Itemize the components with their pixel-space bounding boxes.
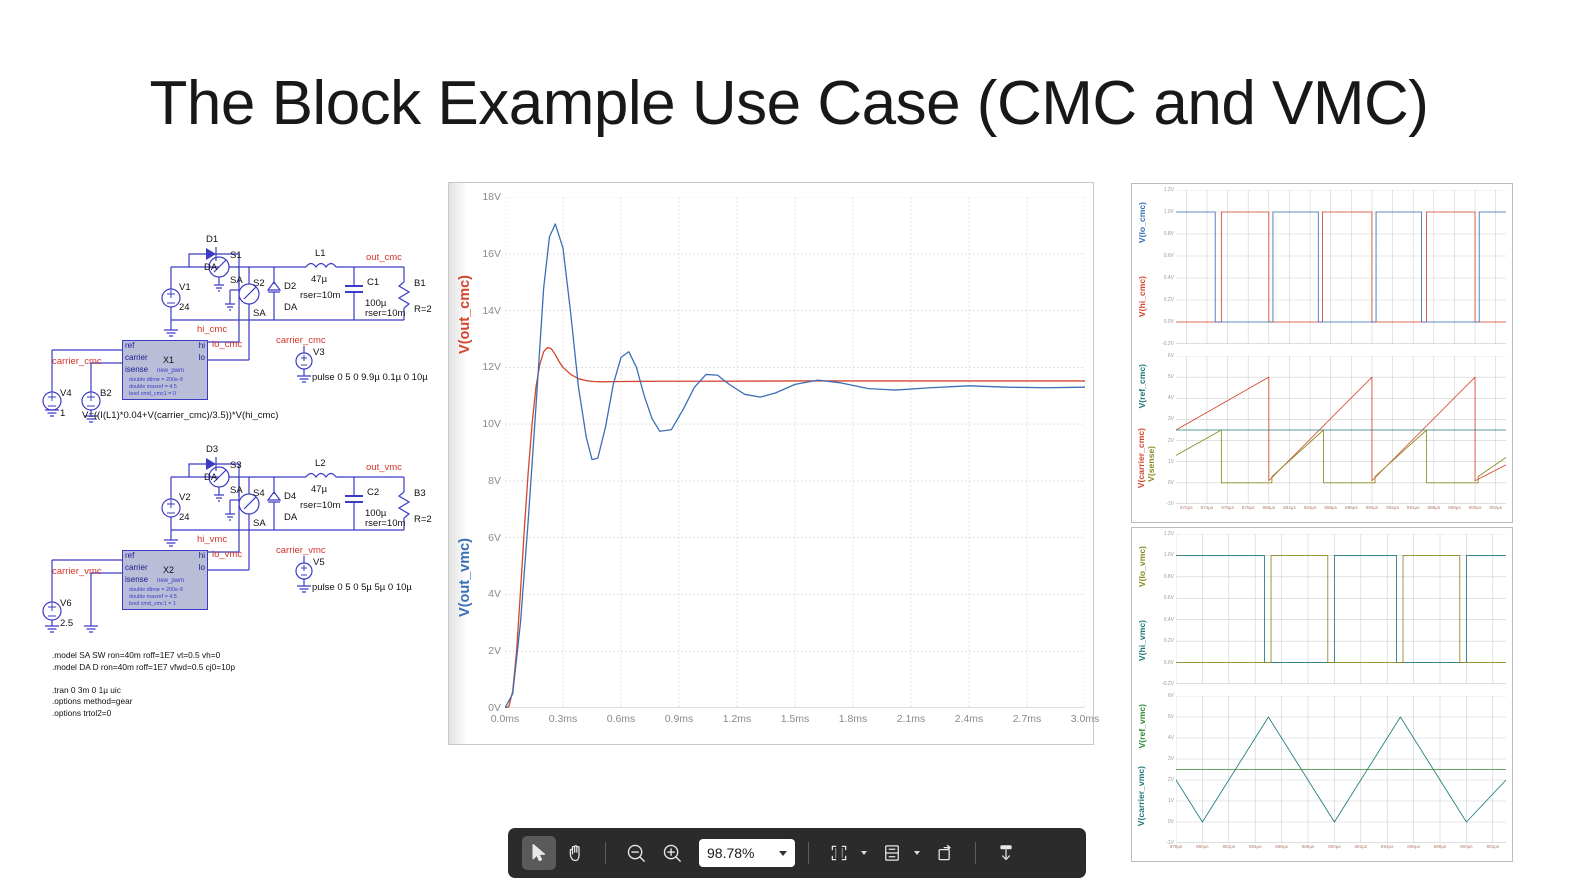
hand-icon: [565, 843, 585, 863]
y-tick-label: 6V: [488, 532, 501, 544]
label-c2: C2: [367, 487, 379, 498]
pwm-block-x2[interactable]: ref carrier isense hi lo X2 new_pwm doub…: [122, 550, 208, 610]
x-tick-label: 0.3ms: [549, 713, 578, 725]
zoom-level-select[interactable]: 98.78%: [699, 839, 795, 867]
y-tick-label: 6V: [1168, 353, 1174, 359]
y-tick-label: 5V: [1168, 714, 1174, 720]
label-v1: V1: [179, 282, 191, 293]
label-c1: C1: [367, 277, 379, 288]
zoom-in-icon: [661, 842, 683, 864]
label-v5: V5: [313, 557, 325, 568]
panel-lo-hi-cmc-area: 1.2V1.0V0.8V0.6V0.4V0.2V0.0V-0.2V: [1176, 190, 1506, 344]
x-tick-label: 892µs: [1354, 844, 1367, 849]
x2-pin-carrier: carrier: [125, 563, 148, 572]
x-tick-label: 2.7ms: [1013, 713, 1042, 725]
download-icon: [996, 843, 1016, 863]
y-tick-label: 4V: [1168, 735, 1174, 741]
x-tick-label: 902µs: [1486, 844, 1499, 849]
y-tick-label: 4V: [1168, 395, 1174, 401]
x2-pin-hi: hi: [199, 551, 205, 560]
x-tick-label: 878µs: [1170, 844, 1183, 849]
x-tick-label: 886µs: [1275, 844, 1288, 849]
label-s2-model: SA: [253, 308, 266, 319]
net-lo-cmc: lo_cmc: [212, 339, 242, 350]
x-tick-label: 872µs: [1180, 505, 1193, 510]
x1-pin-isense: isense: [125, 365, 148, 374]
fit-page-button[interactable]: [822, 836, 856, 870]
plot-left-gradient: [449, 183, 465, 744]
toolbar-divider-3: [975, 842, 976, 864]
label-b3-value: R=2: [414, 514, 432, 525]
y-tick-label: 0.4V: [1164, 275, 1174, 281]
x-tick-label: 1.5ms: [781, 713, 810, 725]
panel-ref-carrier-vmc[interactable]: V(ref_vmc) V(carrier_vmc) 6V5V4V3V2V1V0V…: [1132, 690, 1512, 861]
x-tick-label: 894µs: [1407, 505, 1420, 510]
x2-param-dtime: double dtime = 200e-9: [129, 587, 183, 593]
y-tick-label: 0V: [1168, 819, 1174, 825]
x-tick-label: 3.0ms: [1071, 713, 1100, 725]
toolbar-divider-2: [808, 842, 809, 864]
label-b2-expr: V=((I(L1)*0.04+V(carrier_cmc)/3.5))*V(hi…: [82, 410, 278, 421]
y-tick-label: 1.2V: [1164, 531, 1174, 537]
x-tick-label: 880µs: [1196, 844, 1209, 849]
vmc-waveform-group[interactable]: V(lo_vmc) V(hi_vmc) 1.2V1.0V0.8V0.6V0.4V…: [1131, 527, 1513, 862]
x-tick-label: 896µs: [1407, 844, 1420, 849]
x-tick-label: 1.2ms: [723, 713, 752, 725]
label-d2-model: DA: [284, 302, 297, 313]
y-tick-label: 0.2V: [1164, 638, 1174, 644]
label-v3: V3: [313, 347, 325, 358]
rotate-icon: [935, 843, 955, 863]
label-d3-model: DA: [204, 472, 217, 483]
spice-directives: .model SA SW ron=40m roff=1E7 vt=0.5 vh=…: [52, 650, 235, 719]
main-plot-area: 0V2V4V6V8V10V12V14V16V18V0.0ms0.3ms0.6ms…: [505, 197, 1085, 708]
label-s4-model: SA: [253, 518, 266, 529]
cmc-waveform-group[interactable]: V(lo_cmc) V(hi_cmc) 1.2V1.0V0.8V0.6V0.4V…: [1131, 183, 1513, 523]
y-tick-label: 2V: [488, 645, 501, 657]
label-b1: B1: [414, 278, 426, 289]
x1-param-maxref: double maxref = 4.5: [129, 384, 177, 390]
label-b2: B2: [100, 388, 112, 399]
net-out-vmc: out_vmc: [366, 462, 402, 473]
label-l2-value: 47µ: [311, 484, 327, 495]
x1-model: new_pwm: [157, 368, 184, 374]
x-tick-label: 0.6ms: [607, 713, 636, 725]
rlabel-carrier-cmc: V(carrier_cmc): [1136, 428, 1146, 488]
label-v4: V4: [60, 388, 72, 399]
fit-page-chevron-icon[interactable]: [861, 851, 867, 855]
x-tick-label: 896µs: [1428, 505, 1441, 510]
x2-model: new_pwm: [157, 578, 184, 584]
net-carrier-cmc-src: carrier_cmc: [276, 335, 326, 346]
y-tick-label: 2V: [1168, 777, 1174, 783]
y-tick-label: 3V: [1168, 756, 1174, 762]
pdf-viewer-toolbar[interactable]: 98.78%: [508, 828, 1086, 878]
y-tick-label: 6V: [1168, 693, 1174, 699]
x-tick-label: 882µs: [1222, 844, 1235, 849]
label-s1: S1: [230, 250, 242, 261]
main-waveform-plot[interactable]: V(out_cmc) V(out_vmc) 0V2V4V6V8V10V12V14…: [448, 182, 1094, 745]
x-tick-label: 882µs: [1283, 505, 1296, 510]
x-tick-label: 886µs: [1324, 505, 1337, 510]
panel-lo-hi-cmc[interactable]: V(lo_cmc) V(hi_cmc) 1.2V1.0V0.8V0.6V0.4V…: [1132, 184, 1512, 350]
rlabel-ref-cmc: V(ref_cmc): [1137, 364, 1147, 408]
toolbar-divider-1: [605, 842, 606, 864]
label-v2: V2: [179, 492, 191, 503]
x-tick-label: 874µs: [1201, 505, 1214, 510]
label-d4-model: DA: [284, 512, 297, 523]
main-ylabel-out-cmc: V(out_cmc): [457, 275, 473, 354]
label-v1-value: 24: [179, 302, 190, 313]
x2-ref: X2: [163, 565, 174, 575]
label-d1: D1: [206, 234, 218, 245]
y-tick-label: 0.2V: [1164, 297, 1174, 303]
y-tick-label: 1V: [1168, 798, 1174, 804]
y-tick-label: 16V: [482, 248, 501, 260]
x-tick-label: 900µs: [1460, 844, 1473, 849]
net-carrier-cmc-in: carrier_cmc: [52, 356, 102, 367]
x-tick-label: 892µs: [1386, 505, 1399, 510]
zoom-out-icon: [625, 842, 647, 864]
label-d4: D4: [284, 491, 296, 502]
x2-param-cmd: bool cmd_vmc1 = 1: [129, 601, 176, 607]
label-l2: L2: [315, 458, 326, 469]
label-l1-value: 47µ: [311, 274, 327, 285]
x1-param-dtime: double dtime = 200e-9: [129, 377, 183, 383]
x1-param-cmd: bool cmd_cmc1 = 0: [129, 391, 176, 397]
zoom-level-value: 98.78%: [707, 845, 754, 861]
x-tick-label: 0.9ms: [665, 713, 694, 725]
label-s3: S3: [230, 460, 242, 471]
page-view-chevron-icon[interactable]: [914, 851, 920, 855]
x1-pin-carrier: carrier: [125, 353, 148, 362]
cursor-icon: [529, 843, 549, 863]
chart-svg: [1176, 356, 1506, 504]
chart-svg: [1176, 696, 1506, 843]
y-tick-label: -1V: [1166, 501, 1174, 507]
x-tick-label: 0.0ms: [491, 713, 520, 725]
x-tick-label: 898µs: [1448, 505, 1461, 510]
x-tick-label: 2.1ms: [897, 713, 926, 725]
label-l2-rser: rser=10m: [300, 500, 340, 511]
x-tick-label: 900µs: [1469, 505, 1482, 510]
y-tick-label: 12V: [482, 361, 501, 373]
x1-pin-hi: hi: [199, 341, 205, 350]
y-tick-label: 0.0V: [1164, 660, 1174, 666]
page-view-icon: [882, 843, 902, 863]
x-tick-label: 888µs: [1345, 505, 1358, 510]
schematic-diagram: ref carrier isense hi lo X1 new_pwm doub…: [34, 232, 434, 732]
x1-pin-ref: ref: [125, 341, 134, 350]
rlabel-sense: V(sense): [1146, 446, 1156, 482]
page-view-button[interactable]: [875, 836, 909, 870]
x2-pin-ref: ref: [125, 551, 134, 560]
y-tick-label: 0.6V: [1164, 253, 1174, 259]
x-tick-label: 2.4ms: [955, 713, 984, 725]
download-button[interactable]: [989, 836, 1023, 870]
label-v6: V6: [60, 598, 72, 609]
label-d2: D2: [284, 281, 296, 292]
label-v6-value: 2.5: [60, 618, 73, 629]
y-tick-label: 0V: [1168, 480, 1174, 486]
y-tick-label: 3V: [1168, 416, 1174, 422]
main-ylabel-out-vmc: V(out_vmc): [457, 538, 473, 617]
x2-pin-lo: lo: [199, 563, 205, 572]
y-tick-label: 14V: [482, 305, 501, 317]
x-tick-label: 902µs: [1489, 505, 1502, 510]
y-tick-label: -0.2V: [1162, 681, 1174, 687]
rlabel-lo-vmc: V(lo_vmc): [1137, 546, 1147, 587]
x2-pin-isense: isense: [125, 575, 148, 584]
y-tick-label: 10V: [482, 418, 501, 430]
x1-ref: X1: [163, 355, 174, 365]
y-tick-label: 0.8V: [1164, 231, 1174, 237]
pwm-block-x1[interactable]: ref carrier isense hi lo X1 new_pwm doub…: [122, 340, 208, 400]
x-tick-label: 1.8ms: [839, 713, 868, 725]
net-out-cmc: out_cmc: [366, 252, 402, 263]
x-tick-label: 888µs: [1302, 844, 1315, 849]
chart-svg: [505, 197, 1085, 708]
x-tick-label: 890µs: [1366, 505, 1379, 510]
x-tick-label: 898µs: [1434, 844, 1447, 849]
rlabel-lo-cmc: V(lo_cmc): [1137, 202, 1147, 243]
x-tick-label: 890µs: [1328, 844, 1341, 849]
chart-svg: [1176, 534, 1506, 684]
label-l1: L1: [315, 248, 326, 259]
net-hi-vmc: hi_vmc: [197, 534, 227, 545]
label-b1-value: R=2: [414, 304, 432, 315]
label-c2-rser: rser=10m: [365, 518, 405, 529]
label-s4: S4: [253, 488, 265, 499]
pan-tool[interactable]: [558, 836, 592, 870]
panel-ref-carrier-cmc-area: 6V5V4V3V2V1V0V-1V872µs874µs876µs878µs880…: [1176, 356, 1506, 504]
label-c1-rser: rser=10m: [365, 308, 405, 319]
zoom-out-button[interactable]: [619, 836, 653, 870]
label-s1-model: SA: [230, 275, 243, 286]
y-tick-label: 1.0V: [1164, 552, 1174, 558]
label-d1-model: DA: [204, 262, 217, 273]
net-carrier-vmc-in: carrier_vmc: [52, 566, 102, 577]
rlabel-carrier-vmc: V(carrier_vmc): [1136, 766, 1146, 826]
y-tick-label: 2V: [1168, 438, 1174, 444]
y-tick-label: 4V: [488, 588, 501, 600]
y-tick-label: 1.0V: [1164, 209, 1174, 215]
label-v4-value: 1: [60, 408, 65, 419]
x-tick-label: 884µs: [1304, 505, 1317, 510]
y-tick-label: 0.8V: [1164, 574, 1174, 580]
y-tick-label: 0.0V: [1164, 319, 1174, 325]
panel-lo-hi-vmc-area: 1.2V1.0V0.8V0.6V0.4V0.2V0.0V-0.2V: [1176, 534, 1506, 684]
panel-ref-carrier-vmc-area: 6V5V4V3V2V1V0V-1V878µs880µs882µs884µs886…: [1176, 696, 1506, 843]
label-v5-spec: pulse 0 5 0 5µ 5µ 0 10µ: [312, 582, 412, 593]
rotate-button[interactable]: [928, 836, 962, 870]
panel-ref-carrier-cmc[interactable]: V(ref_cmc) V(sense) V(carrier_cmc) 6V5V4…: [1132, 350, 1512, 522]
rlabel-hi-cmc: V(hi_cmc): [1137, 276, 1147, 317]
net-hi-cmc: hi_cmc: [197, 324, 227, 335]
label-b3: B3: [414, 488, 426, 499]
label-s2: S2: [253, 278, 265, 289]
chart-svg: [1176, 190, 1506, 344]
x-tick-label: 894µs: [1381, 844, 1394, 849]
label-l1-rser: rser=10m: [300, 290, 340, 301]
chevron-down-icon: [779, 851, 787, 856]
x-tick-label: 878µs: [1242, 505, 1255, 510]
y-tick-label: 0.4V: [1164, 617, 1174, 623]
fit-page-icon: [829, 843, 849, 863]
y-tick-label: 8V: [488, 475, 501, 487]
zoom-in-button[interactable]: [655, 836, 689, 870]
panel-lo-hi-vmc[interactable]: V(lo_vmc) V(hi_vmc) 1.2V1.0V0.8V0.6V0.4V…: [1132, 528, 1512, 690]
y-tick-label: 1.2V: [1164, 187, 1174, 193]
x2-param-maxref: double maxref = 4.5: [129, 594, 177, 600]
label-d3: D3: [206, 444, 218, 455]
x-tick-label: 884µs: [1249, 844, 1262, 849]
y-tick-label: -0.2V: [1162, 341, 1174, 347]
label-s3-model: SA: [230, 485, 243, 496]
label-v3-spec: pulse 0 5 0 9.9µ 0.1µ 0 10µ: [312, 372, 428, 383]
net-carrier-vmc-src: carrier_vmc: [276, 545, 326, 556]
net-lo-vmc: lo_vmc: [212, 549, 242, 560]
label-v2-value: 24: [179, 512, 190, 523]
rlabel-hi-vmc: V(hi_vmc): [1137, 620, 1147, 661]
x-tick-label: 880µs: [1263, 505, 1276, 510]
x-tick-label: 876µs: [1221, 505, 1234, 510]
rlabel-ref-vmc: V(ref_vmc): [1137, 704, 1147, 748]
x1-pin-lo: lo: [199, 353, 205, 362]
y-tick-label: 0.6V: [1164, 595, 1174, 601]
y-tick-label: 5V: [1168, 374, 1174, 380]
page-title: The Block Example Use Case (CMC and VMC): [0, 68, 1578, 139]
y-tick-label: 1V: [1168, 459, 1174, 465]
y-tick-label: 18V: [482, 191, 501, 203]
select-tool[interactable]: [522, 836, 556, 870]
